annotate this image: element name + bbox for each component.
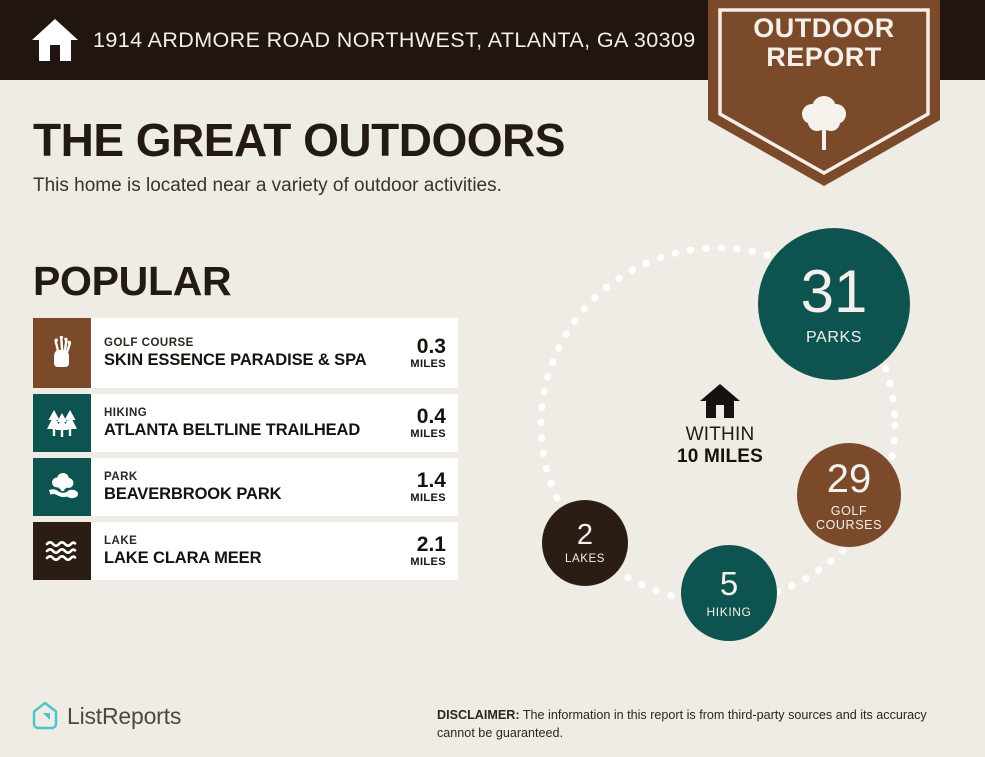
center-line-2: 10 MILES — [655, 446, 785, 468]
bubble-golf-label-line1: GOLF — [831, 504, 867, 518]
badge-line-1: OUTDOOR — [708, 14, 940, 43]
tree-icon — [798, 92, 850, 152]
bubble-parks-value: 31 — [801, 262, 868, 322]
within-10-miles-bubble-chart: 31 PARKS 29 GOLF COURSES 5 HIKING 2 LAKE… — [500, 210, 985, 660]
list-item[interactable]: LAKE LAKE CLARA MEER 2.1 MILES — [33, 522, 458, 580]
bubble-golf-value: 29 — [827, 459, 872, 499]
poi-body: LAKE LAKE CLARA MEER — [91, 522, 396, 580]
outdoor-report-badge: OUTDOOR REPORT — [708, 0, 940, 186]
water-waves-icon — [45, 539, 79, 563]
poi-distance-value: 1.4 — [417, 470, 446, 492]
poi-distance-value: 0.4 — [417, 406, 446, 428]
diagram-center-label: WITHIN 10 MILES — [655, 382, 785, 468]
poi-name: BEAVERBROOK PARK — [104, 485, 392, 504]
bubble-lakes[interactable]: 2 LAKES — [542, 500, 628, 586]
poi-category: HIKING — [104, 406, 392, 420]
poi-distance: 0.4 MILES — [396, 394, 458, 452]
poi-distance-value: 0.3 — [417, 336, 446, 358]
disclaimer: DISCLAIMER: The information in this repo… — [437, 706, 957, 743]
bubble-parks-label: PARKS — [806, 329, 862, 347]
listreports-logo-text: ListReports — [67, 703, 181, 730]
poi-distance-unit: MILES — [410, 428, 446, 440]
poi-distance: 2.1 MILES — [396, 522, 458, 580]
poi-icon-tile — [33, 318, 91, 388]
poi-body: PARK BEAVERBROOK PARK — [91, 458, 396, 516]
popular-list: GOLF COURSE SKIN ESSENCE PARADISE & SPA … — [33, 318, 458, 586]
listreports-logo[interactable]: ListReports — [30, 700, 181, 732]
listreports-house-pin-icon — [30, 700, 60, 732]
house-icon — [30, 16, 80, 64]
poi-name: SKIN ESSENCE PARADISE & SPA — [104, 351, 392, 370]
golf-bag-icon — [47, 336, 77, 370]
poi-icon-tile — [33, 394, 91, 452]
bubble-lakes-label: LAKES — [565, 553, 605, 565]
house-icon — [699, 382, 741, 420]
poi-body: GOLF COURSE SKIN ESSENCE PARADISE & SPA — [91, 318, 396, 388]
list-item[interactable]: PARK BEAVERBROOK PARK 1.4 MILES — [33, 458, 458, 516]
bubble-golf-label-line2: COURSES — [816, 518, 882, 532]
center-line-1: WITHIN — [655, 425, 785, 446]
popular-heading: POPULAR — [33, 258, 231, 305]
poi-distance: 0.3 MILES — [396, 318, 458, 388]
poi-icon-tile — [33, 458, 91, 516]
poi-distance-value: 2.1 — [417, 534, 446, 556]
park-tree-bench-icon — [45, 472, 79, 502]
bubble-hiking-label: HIKING — [707, 605, 752, 619]
disclaimer-label: DISCLAIMER: — [437, 708, 520, 722]
outdoor-report-infographic: 1914 ARDMORE ROAD NORTHWEST, ATLANTA, GA… — [0, 0, 985, 757]
poi-name: LAKE CLARA MEER — [104, 549, 392, 568]
bubble-golf-label: GOLF COURSES — [816, 504, 882, 532]
badge-title: OUTDOOR REPORT — [708, 14, 940, 72]
poi-body: HIKING ATLANTA BELTLINE TRAILHEAD — [91, 394, 396, 452]
poi-distance-unit: MILES — [410, 358, 446, 370]
poi-category: GOLF COURSE — [104, 336, 392, 350]
badge-line-2: REPORT — [708, 43, 940, 72]
poi-distance-unit: MILES — [410, 492, 446, 504]
list-item[interactable]: GOLF COURSE SKIN ESSENCE PARADISE & SPA … — [33, 318, 458, 388]
page-title: THE GREAT OUTDOORS — [33, 113, 565, 167]
poi-icon-tile — [33, 522, 91, 580]
poi-distance-unit: MILES — [410, 556, 446, 568]
poi-distance: 1.4 MILES — [396, 458, 458, 516]
bubble-parks[interactable]: 31 PARKS — [758, 228, 910, 380]
property-address: 1914 ARDMORE ROAD NORTHWEST, ATLANTA, GA… — [93, 28, 696, 53]
poi-category: LAKE — [104, 534, 392, 548]
bubble-hiking[interactable]: 5 HIKING — [681, 545, 777, 641]
list-item[interactable]: HIKING ATLANTA BELTLINE TRAILHEAD 0.4 MI… — [33, 394, 458, 452]
pine-trees-icon — [45, 407, 79, 439]
poi-name: ATLANTA BELTLINE TRAILHEAD — [104, 421, 392, 440]
bubble-lakes-value: 2 — [577, 521, 593, 550]
poi-category: PARK — [104, 470, 392, 484]
page-subtitle: This home is located near a variety of o… — [33, 175, 502, 197]
bubble-hiking-value: 5 — [720, 567, 738, 600]
bubble-golf-courses[interactable]: 29 GOLF COURSES — [797, 443, 901, 547]
